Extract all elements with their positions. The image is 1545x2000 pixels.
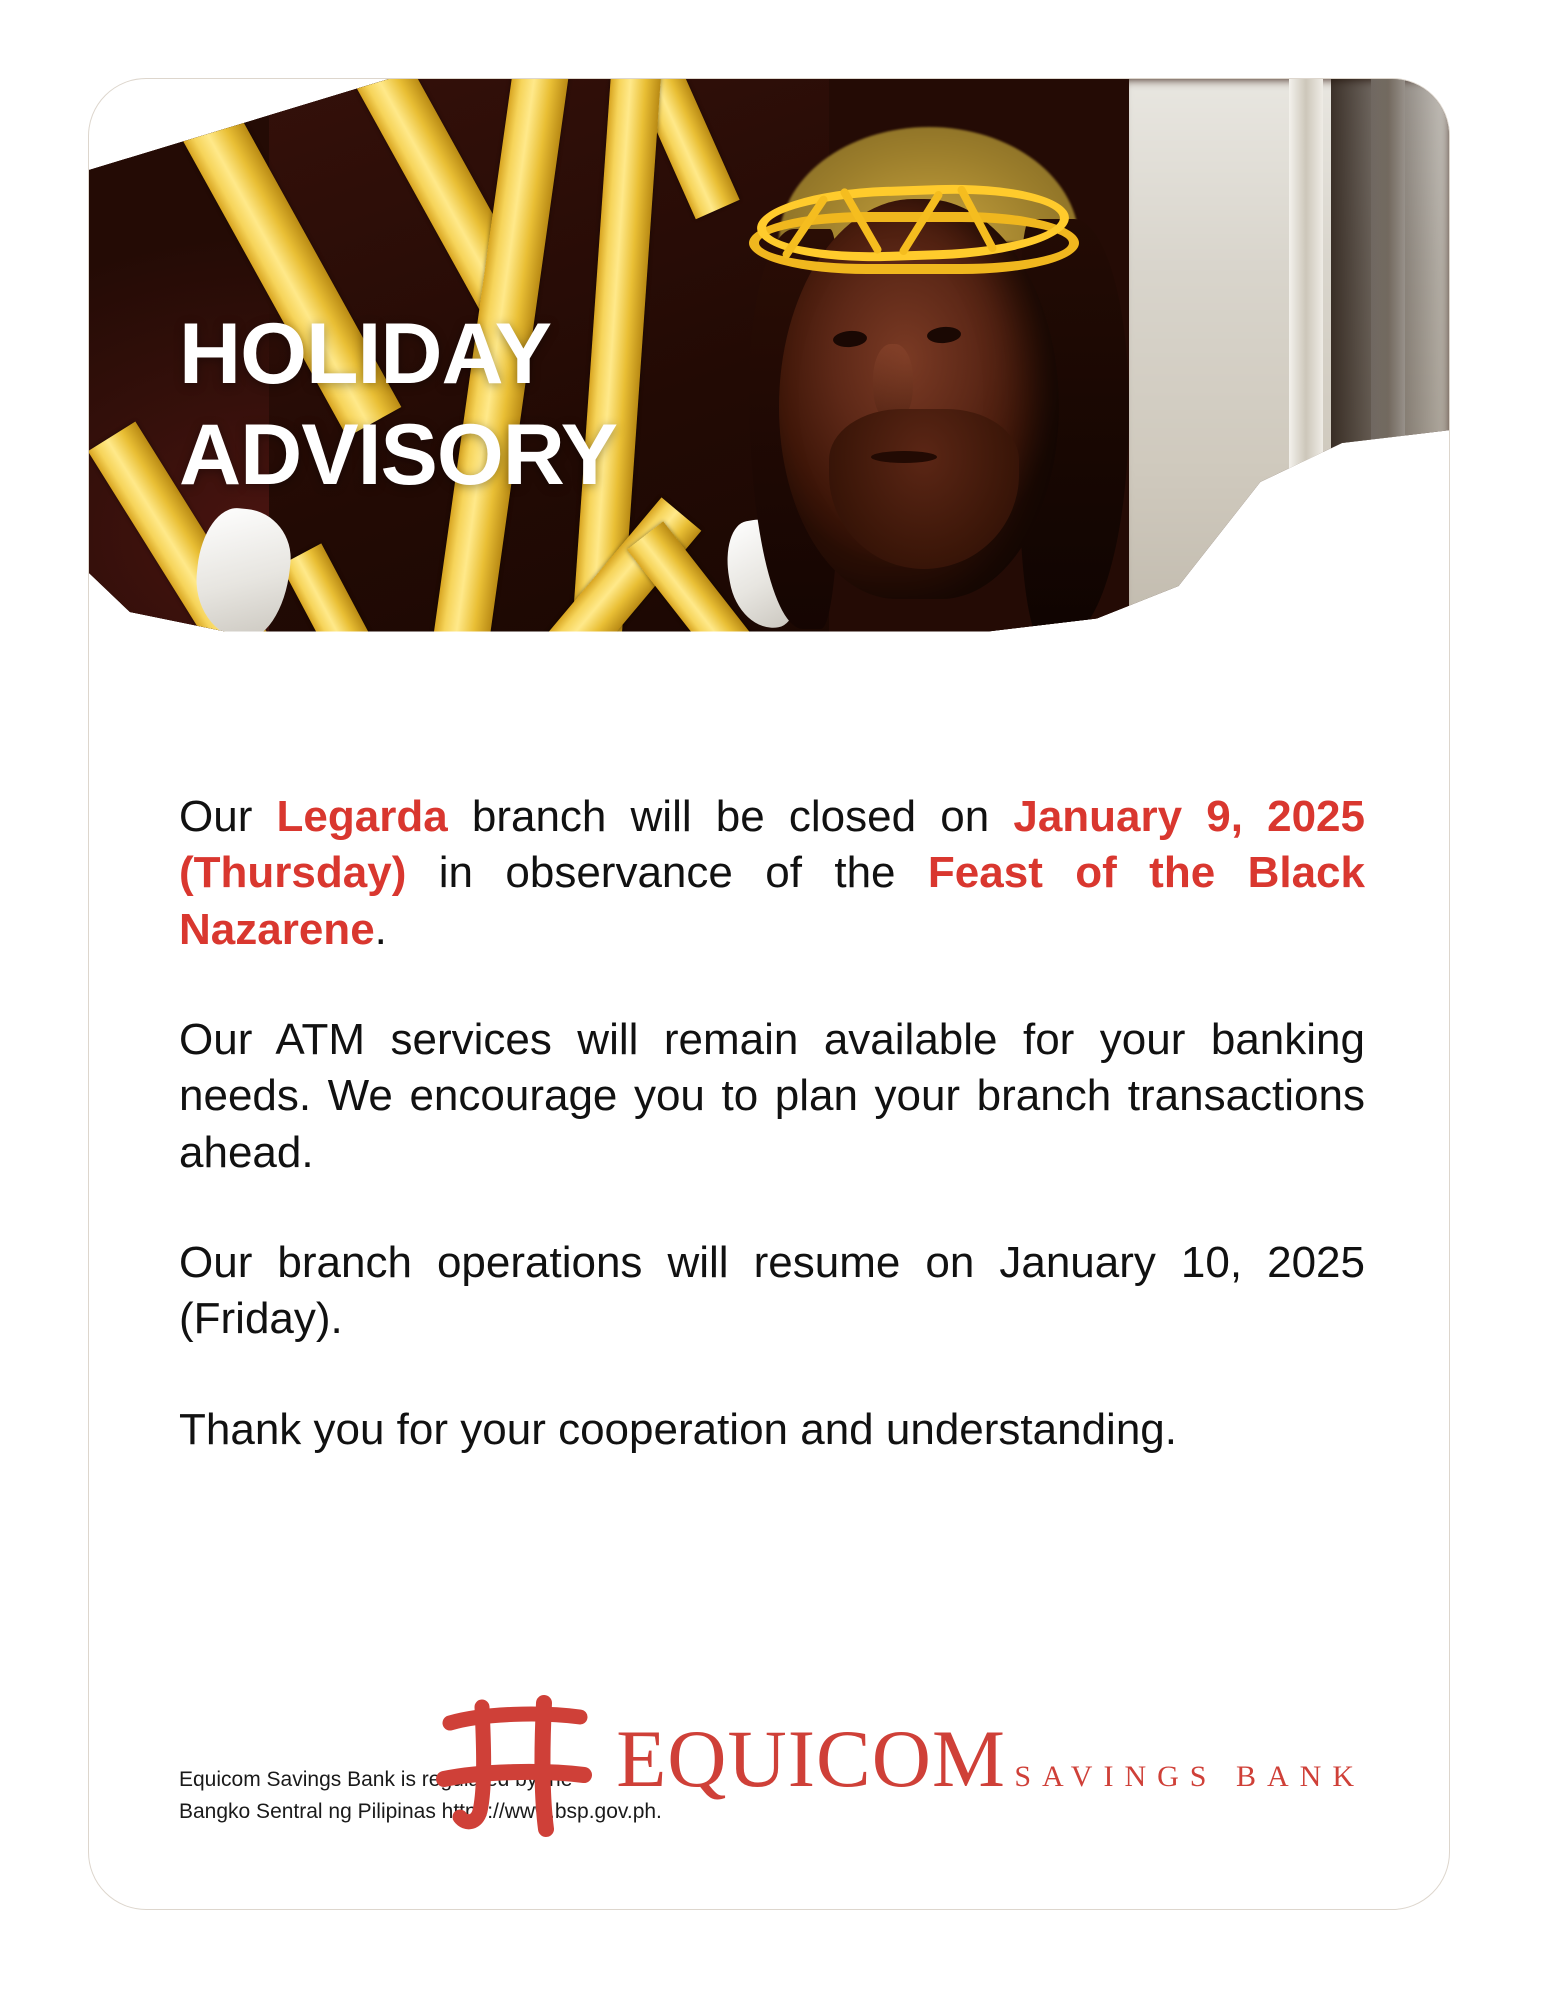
hero-banner: HOLIDAY ADVISORY — [89, 79, 1450, 729]
paragraph-resume-operations: Our branch operations will resume on Jan… — [179, 1235, 1365, 1348]
page-title-line-2: ADVISORY — [179, 405, 879, 506]
branch-name-highlight: Legarda — [277, 792, 448, 841]
paragraph-atm-services: Our ATM services will remain available f… — [179, 1012, 1365, 1181]
text-segment: . — [375, 905, 387, 954]
text-segment: in observance of the — [406, 848, 928, 897]
paragraph-closure-notice: Our Legarda branch will be closed on Jan… — [179, 789, 1365, 958]
text-segment: branch will be closed on — [448, 792, 1014, 841]
equicom-wordmark-text: EQUICOM — [616, 1713, 1006, 1804]
page-title-line-1: HOLIDAY — [179, 304, 879, 405]
equicom-brush-mark-icon — [434, 1679, 594, 1839]
column-decor — [1289, 79, 1323, 729]
footer: Equicom Savings Bank is regulated by the… — [179, 1615, 1365, 1845]
edge-shadow — [1331, 79, 1450, 729]
equicom-tagline-text: SAVINGS BANK — [1010, 1760, 1365, 1793]
advisory-body: Our Legarda branch will be closed on Jan… — [179, 789, 1365, 1458]
poster-page: HOLIDAY ADVISORY Our Legarda branch will… — [0, 0, 1545, 2000]
equicom-logo: EQUICOM SAVINGS BANK — [434, 1679, 1365, 1839]
mouth — [871, 451, 937, 463]
equicom-wordmark: EQUICOM SAVINGS BANK — [616, 1720, 1365, 1798]
advisory-card: HOLIDAY ADVISORY Our Legarda branch will… — [88, 78, 1450, 1910]
crown-of-thorns-icon — [749, 174, 1079, 294]
page-title: HOLIDAY ADVISORY — [179, 304, 879, 507]
paragraph-thank-you: Thank you for your cooperation and under… — [179, 1402, 1365, 1458]
text-segment: Our — [179, 792, 277, 841]
